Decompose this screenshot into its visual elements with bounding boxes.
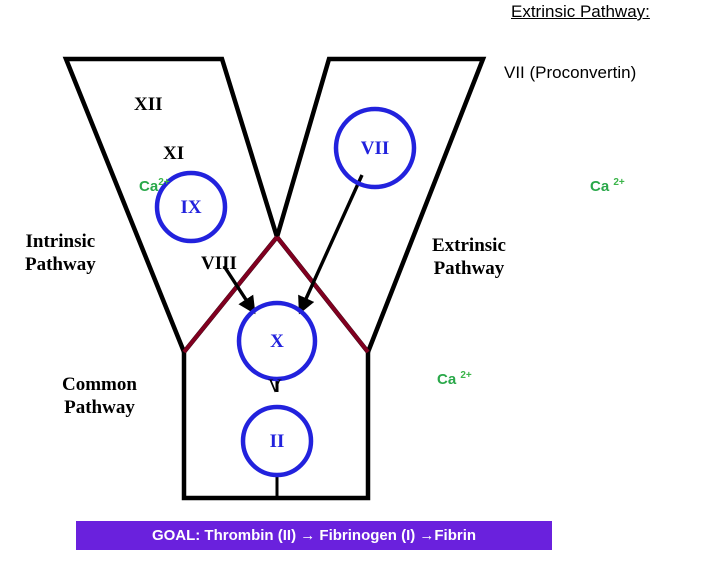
- common-pathway-label: Common Pathway: [62, 373, 137, 419]
- node-ii-label: II: [270, 431, 285, 453]
- calcium-common-charge: 2+: [460, 370, 471, 381]
- calcium-intrinsic-label: Ca2+: [139, 177, 170, 195]
- calcium-common-label: Ca 2+: [437, 370, 472, 388]
- calcium-intrinsic-charge: 2+: [158, 177, 169, 188]
- calcium-intrinsic-symbol: Ca: [139, 178, 158, 195]
- activation-line-extrinsic: [277, 237, 368, 352]
- calcium-common-symbol: Ca: [437, 371, 456, 388]
- factor-vii-proconvertin-note: VII (Proconvertin): [504, 64, 636, 81]
- calcium-extrinsic-charge: 2+: [613, 177, 624, 188]
- goal-banner: GOAL: Thrombin (II) → Fibrinogen (I) →Fi…: [76, 521, 552, 550]
- arrow-vii-to-x: [300, 175, 362, 312]
- node-ix-label: IX: [180, 197, 201, 219]
- factor-xii-label: XII: [134, 95, 163, 114]
- calcium-extrinsic-symbol: Ca: [590, 178, 609, 195]
- node-x-label: X: [270, 331, 284, 353]
- node-vii-label: VII: [361, 138, 390, 160]
- goal-banner-text: GOAL: Thrombin (II) → Fibrinogen (I) →Fi…: [152, 527, 476, 544]
- cascade-diagram-canvas: Extrinsic Pathway: VII (Proconvertin) XI…: [0, 0, 707, 561]
- intrinsic-pathway-label: Intrinsic Pathway: [25, 230, 96, 276]
- calcium-extrinsic-label: Ca 2+: [590, 177, 625, 195]
- factor-v-label: V: [268, 377, 282, 396]
- extrinsic-pathway-heading: Extrinsic Pathway:: [511, 3, 650, 20]
- extrinsic-pathway-label: Extrinsic Pathway: [432, 234, 506, 280]
- diagram-vector-layer: [0, 0, 707, 561]
- extrinsic-wedge-outline: [277, 59, 483, 352]
- intrinsic-wedge-outline: [66, 59, 277, 352]
- factor-viii-label: VIII: [201, 254, 237, 273]
- factor-xi-label: XI: [163, 144, 184, 163]
